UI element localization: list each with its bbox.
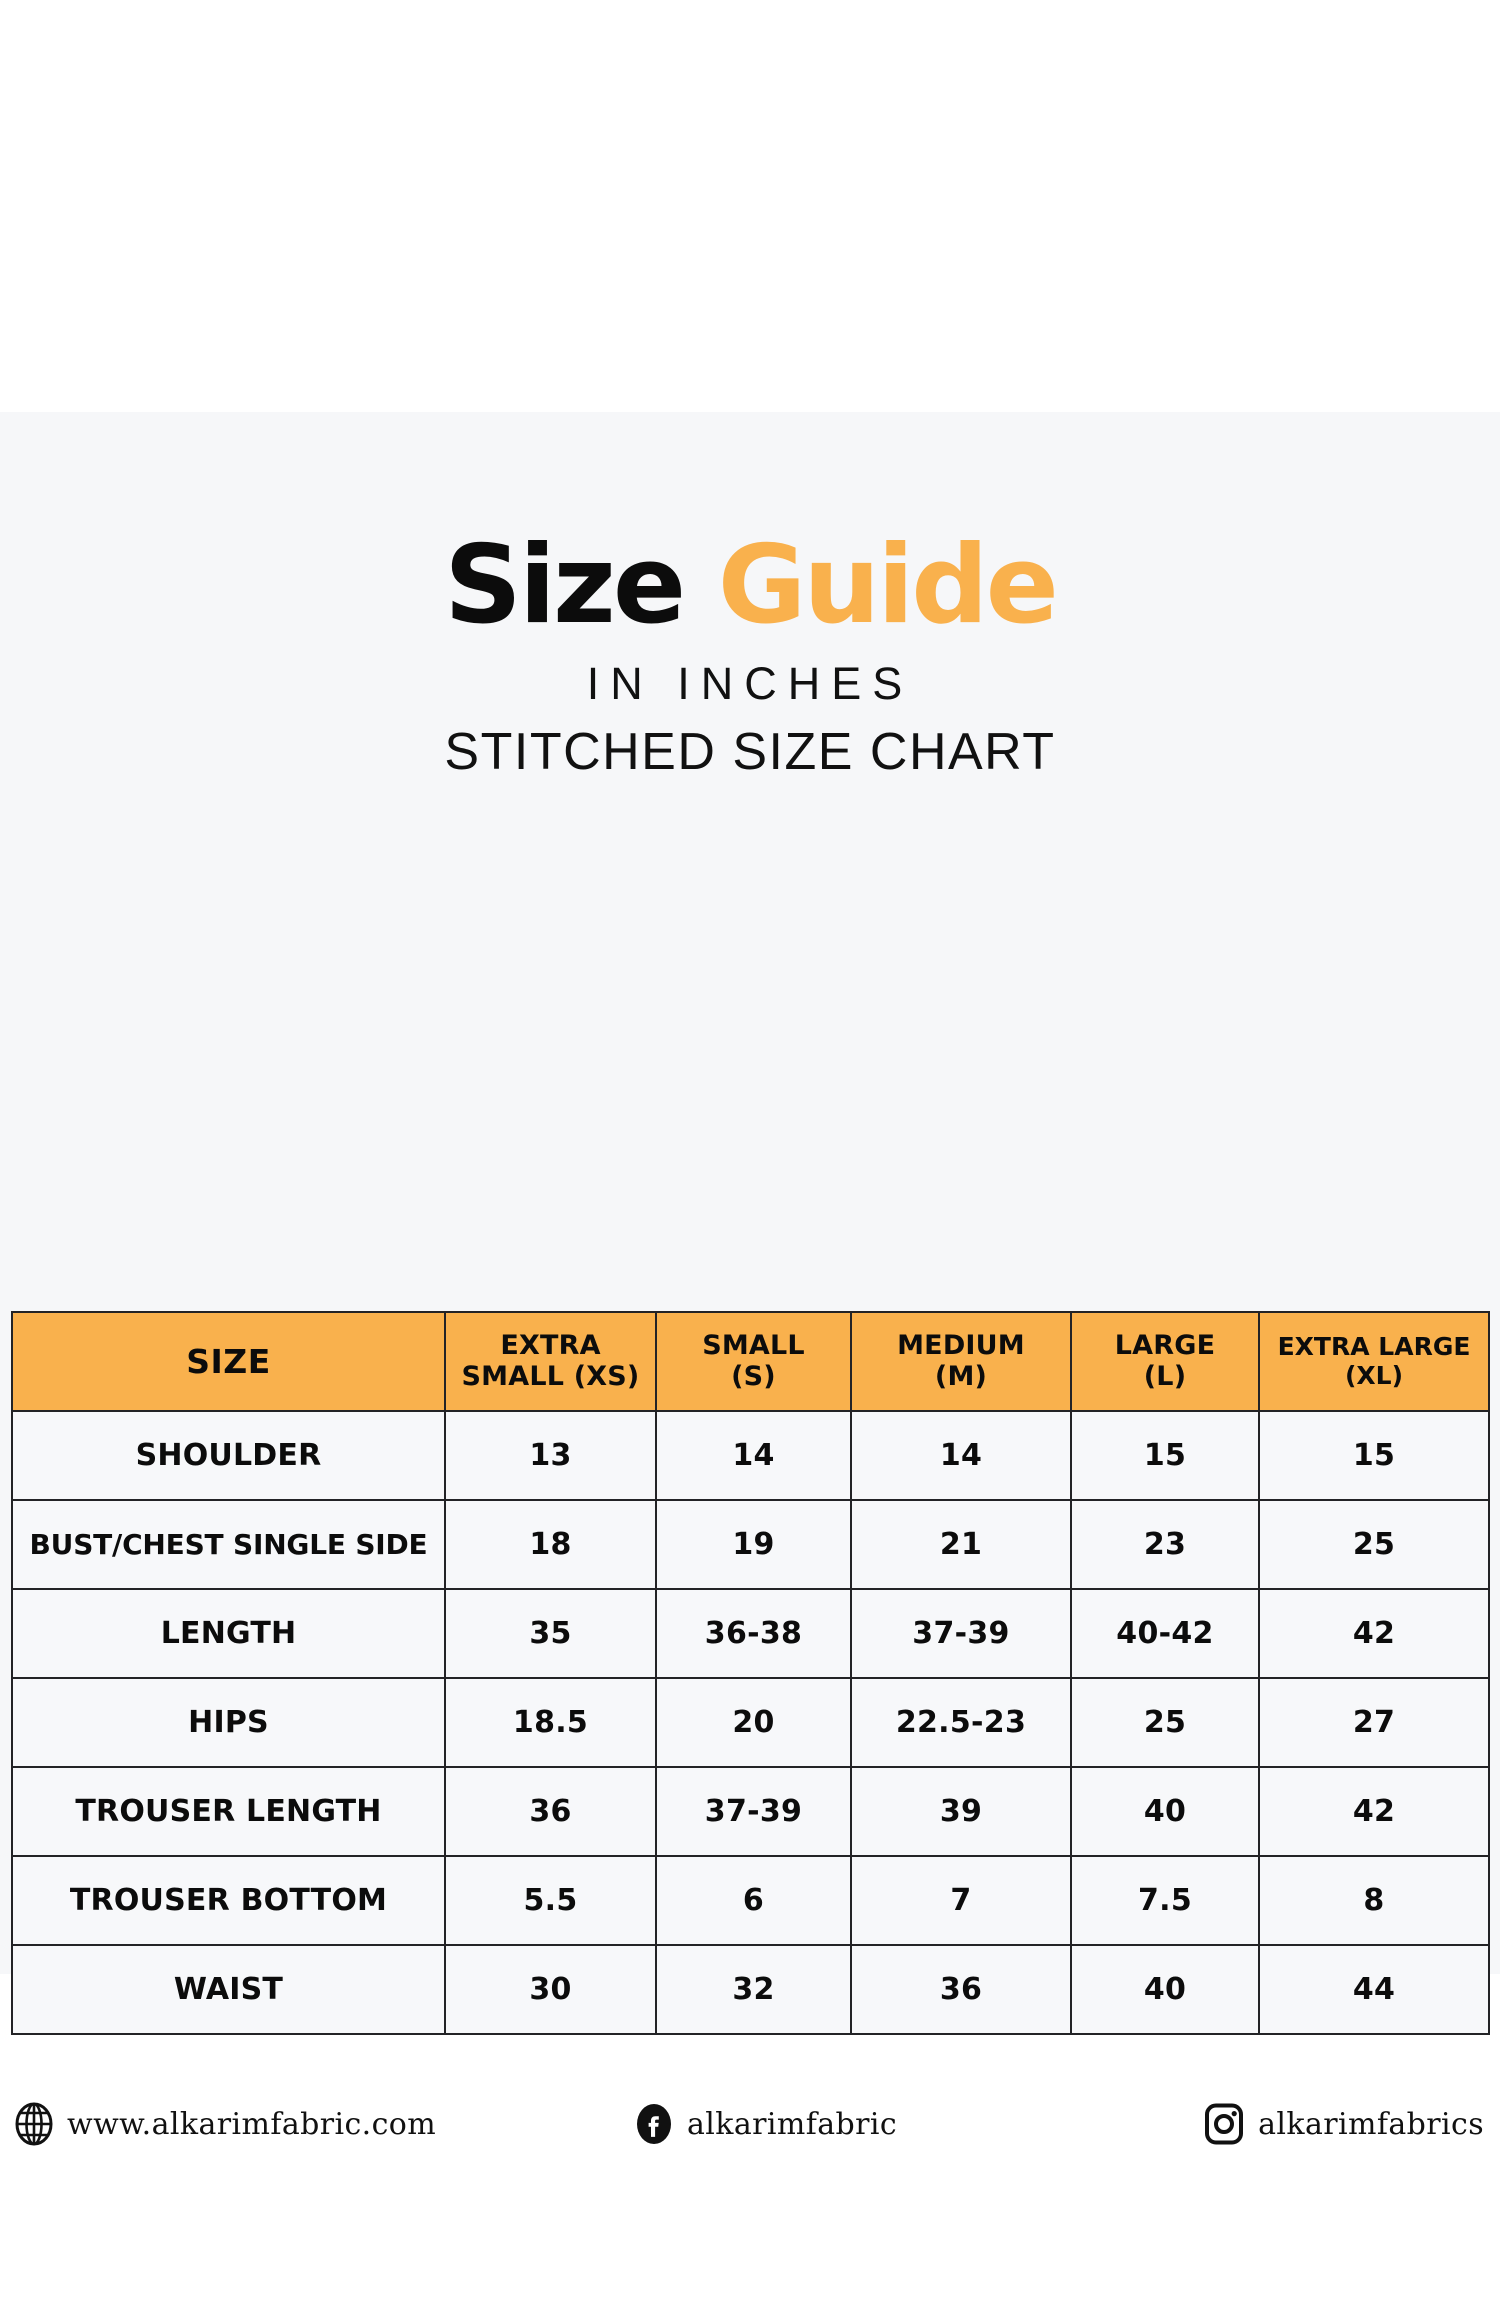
cell-trouser-bottom-xl: 8 [1259, 1856, 1489, 1945]
cell-length-xl: 42 [1259, 1589, 1489, 1678]
header-extra-large: EXTRA LARGE (XL) [1259, 1312, 1489, 1411]
cell-hips-s: 20 [656, 1678, 851, 1767]
cell-length-l: 40-42 [1071, 1589, 1259, 1678]
table-row: WAIST 30 32 36 40 44 [12, 1945, 1489, 2034]
header-large: LARGE (L) [1071, 1312, 1259, 1411]
cell-length-xs: 35 [445, 1589, 656, 1678]
cell-hips-l: 25 [1071, 1678, 1259, 1767]
content-card: Size Guide IN INCHES STITCHED SIZE CHART… [0, 412, 1500, 1974]
header-medium: MEDIUM (M) [851, 1312, 1071, 1411]
cell-shoulder-xs: 13 [445, 1411, 656, 1500]
cell-shoulder-m: 14 [851, 1411, 1071, 1500]
cell-trouser-length-l: 40 [1071, 1767, 1259, 1856]
cell-hips-xl: 27 [1259, 1678, 1489, 1767]
cell-waist-s: 32 [656, 1945, 851, 2034]
cell-bust-xl: 25 [1259, 1500, 1489, 1589]
cell-waist-l: 40 [1071, 1945, 1259, 2034]
cell-hips-xs: 18.5 [445, 1678, 656, 1767]
header-size: SIZE [12, 1312, 445, 1411]
cell-bust-m: 21 [851, 1500, 1071, 1589]
cell-waist-xl: 44 [1259, 1945, 1489, 2034]
cell-shoulder-l: 15 [1071, 1411, 1259, 1500]
cell-hips-m: 22.5-23 [851, 1678, 1071, 1767]
table-row: TROUSER BOTTOM 5.5 6 7 7.5 8 [12, 1856, 1489, 1945]
globe-icon [14, 2102, 54, 2146]
cell-trouser-length-s: 37-39 [656, 1767, 851, 1856]
row-label-waist: WAIST [12, 1945, 445, 2034]
table-row: HIPS 18.5 20 22.5-23 25 27 [12, 1678, 1489, 1767]
cell-trouser-bottom-l: 7.5 [1071, 1856, 1259, 1945]
row-label-trouser-length: TROUSER LENGTH [12, 1767, 445, 1856]
cell-trouser-length-m: 39 [851, 1767, 1071, 1856]
size-guide-page: Size Guide IN INCHES STITCHED SIZE CHART… [0, 0, 1500, 2300]
footer-instagram[interactable]: alkarimfabrics [1004, 2102, 1484, 2146]
title-block: Size Guide IN INCHES STITCHED SIZE CHART [0, 530, 1500, 780]
table-row: BUST/CHEST SINGLE SIDE 18 19 21 23 25 [12, 1500, 1489, 1589]
instagram-icon [1203, 2102, 1245, 2146]
facebook-icon [634, 2102, 674, 2146]
page-title: Size Guide [0, 530, 1500, 642]
footer-facebook[interactable]: alkarimfabric [484, 2102, 1004, 2146]
cell-length-m: 37-39 [851, 1589, 1071, 1678]
row-label-shoulder: SHOULDER [12, 1411, 445, 1500]
subtitle-units: IN INCHES [0, 660, 1500, 708]
cell-waist-m: 36 [851, 1945, 1071, 2034]
cell-trouser-bottom-xs: 5.5 [445, 1856, 656, 1945]
page-title-accent: Guide [718, 523, 1056, 648]
footer-facebook-label: alkarimfabric [687, 2107, 897, 2142]
footer-website[interactable]: www.alkarimfabric.com [14, 2102, 484, 2146]
row-label-bust-chest-single-side: BUST/CHEST SINGLE SIDE [12, 1500, 445, 1589]
cell-trouser-length-xs: 36 [445, 1767, 656, 1856]
table-row: SHOULDER 13 14 14 15 15 [12, 1411, 1489, 1500]
row-label-length: LENGTH [12, 1589, 445, 1678]
cell-shoulder-s: 14 [656, 1411, 851, 1500]
cell-bust-l: 23 [1071, 1500, 1259, 1589]
header-extra-small: EXTRA SMALL (XS) [445, 1312, 656, 1411]
cell-bust-s: 19 [656, 1500, 851, 1589]
cell-trouser-bottom-s: 6 [656, 1856, 851, 1945]
size-chart-table: SIZE EXTRA SMALL (XS) SMALL (S) MEDIUM (… [11, 1311, 1490, 2035]
page-title-black: Size [444, 523, 683, 648]
row-label-trouser-bottom: TROUSER BOTTOM [12, 1856, 445, 1945]
footer-instagram-label: alkarimfabrics [1258, 2107, 1484, 2142]
footer-contacts: www.alkarimfabric.com alkarimfabric alka… [14, 2102, 1484, 2146]
row-label-hips: HIPS [12, 1678, 445, 1767]
table-row: LENGTH 35 36-38 37-39 40-42 42 [12, 1589, 1489, 1678]
table-header-row: SIZE EXTRA SMALL (XS) SMALL (S) MEDIUM (… [12, 1312, 1489, 1411]
table-row: TROUSER LENGTH 36 37-39 39 40 42 [12, 1767, 1489, 1856]
cell-trouser-bottom-m: 7 [851, 1856, 1071, 1945]
footer-website-label: www.alkarimfabric.com [67, 2107, 436, 2142]
cell-shoulder-xl: 15 [1259, 1411, 1489, 1500]
cell-trouser-length-xl: 42 [1259, 1767, 1489, 1856]
cell-waist-xs: 30 [445, 1945, 656, 2034]
header-small: SMALL (S) [656, 1312, 851, 1411]
cell-length-s: 36-38 [656, 1589, 851, 1678]
cell-bust-xs: 18 [445, 1500, 656, 1589]
subtitle-chart-type: STITCHED SIZE CHART [0, 724, 1500, 780]
